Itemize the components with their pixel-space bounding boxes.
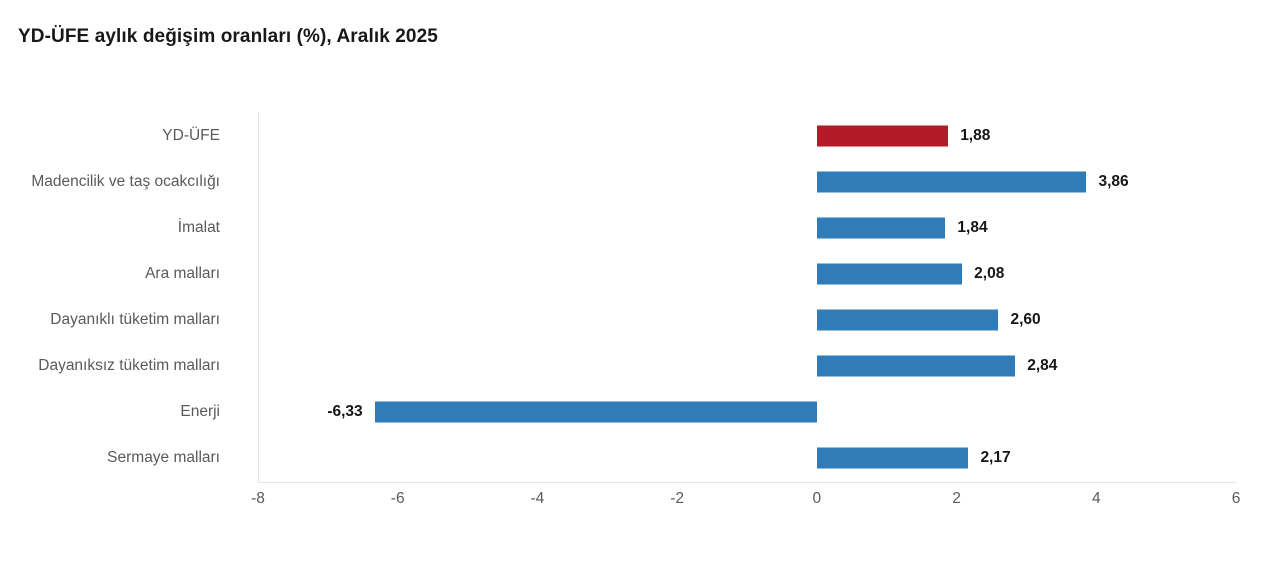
- category-label: İmalat: [178, 219, 220, 237]
- bar[interactable]: [817, 126, 948, 147]
- bar-row: Dayanıksız tüketim malları2,84: [258, 343, 1236, 389]
- bar-value-label: 2,08: [974, 265, 1004, 283]
- bar-value-label: -6,33: [327, 403, 362, 421]
- bar[interactable]: [375, 402, 817, 423]
- bar[interactable]: [817, 264, 962, 285]
- bar-row: Enerji-6,33: [258, 389, 1236, 435]
- bar[interactable]: [817, 310, 999, 331]
- x-tick-label: -4: [531, 490, 545, 508]
- x-tick-label: 0: [813, 490, 822, 508]
- bar[interactable]: [817, 172, 1087, 193]
- bar-value-label: 2,84: [1027, 357, 1057, 375]
- bar-row: YD-ÜFE1,88: [258, 113, 1236, 159]
- x-tick-label: 6: [1232, 490, 1241, 508]
- bar[interactable]: [817, 448, 969, 469]
- x-tick-label: -8: [251, 490, 265, 508]
- x-tick-label: -2: [670, 490, 684, 508]
- category-label: Ara malları: [145, 265, 220, 283]
- bar-row: Ara malları2,08: [258, 251, 1236, 297]
- page-title: YD-ÜFE aylık değişim oranları (%), Aralı…: [18, 26, 438, 48]
- category-label: Madencilik ve taş ocakcılığı: [31, 173, 220, 191]
- category-label: Dayanıksız tüketim malları: [38, 357, 220, 375]
- category-label: Sermaye malları: [107, 449, 220, 467]
- category-label: Dayanıklı tüketim malları: [50, 311, 220, 329]
- x-tick-label: 2: [952, 490, 961, 508]
- bar-value-label: 3,86: [1099, 173, 1129, 191]
- bar-value-label: 2,17: [980, 449, 1010, 467]
- bar-row: Sermaye malları2,17: [258, 435, 1236, 481]
- bar-value-label: 2,60: [1010, 311, 1040, 329]
- bar-value-label: 1,84: [957, 219, 987, 237]
- bar-row: Dayanıklı tüketim malları2,60: [258, 297, 1236, 343]
- bar-row: İmalat1,84: [258, 205, 1236, 251]
- x-axis-line: [258, 482, 1236, 483]
- bar[interactable]: [817, 356, 1015, 377]
- category-label: YD-ÜFE: [162, 127, 220, 145]
- x-tick-label: -6: [391, 490, 405, 508]
- chart-plot-area: YD-ÜFE1,88Madencilik ve taş ocakcılığı3,…: [258, 112, 1236, 483]
- bar-value-label: 1,88: [960, 127, 990, 145]
- bar-row: Madencilik ve taş ocakcılığı3,86: [258, 159, 1236, 205]
- x-tick-label: 4: [1092, 490, 1101, 508]
- category-label: Enerji: [180, 403, 220, 421]
- bar[interactable]: [817, 218, 946, 239]
